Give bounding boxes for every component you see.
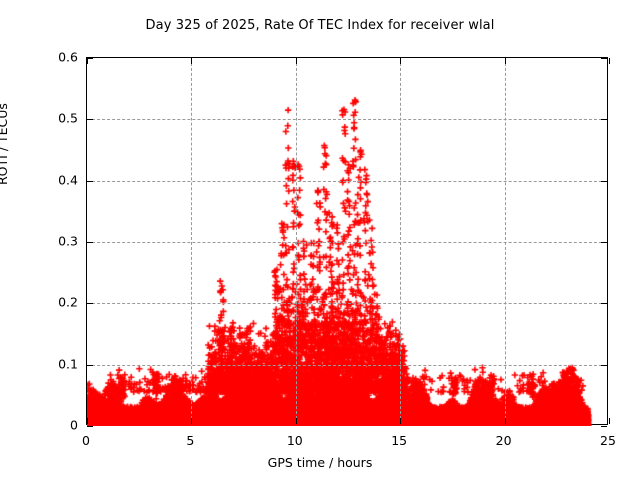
x-axis-tick-label: 20 [484, 433, 524, 448]
y-axis-label: ROTI / TECUs [0, 103, 10, 185]
y-axis-tick-right [601, 303, 607, 304]
gridline-horizontal [87, 365, 607, 366]
plot-area [86, 57, 608, 425]
gridline-horizontal [87, 242, 607, 243]
x-axis-tick-label: 15 [379, 433, 419, 448]
x-axis-label: GPS time / hours [0, 455, 640, 470]
gridline-horizontal [87, 181, 607, 182]
x-axis-tick [191, 418, 192, 424]
y-axis-tick [87, 426, 93, 427]
x-axis-tick-top [505, 58, 506, 64]
x-axis-tick-top [87, 58, 88, 64]
gridline-vertical [505, 58, 506, 424]
gridline-horizontal [87, 303, 607, 304]
gridline-vertical [400, 58, 401, 424]
y-axis-tick-label: 0.2 [32, 295, 78, 310]
gridline-horizontal [87, 119, 607, 120]
y-axis-tick-right [601, 58, 607, 59]
y-axis-tick-label: 0 [32, 418, 78, 433]
y-axis-tick-label: 0.4 [32, 172, 78, 187]
y-axis-tick [87, 365, 93, 366]
x-axis-tick-top [191, 58, 192, 64]
gridline-vertical [296, 58, 297, 424]
y-axis-tick [87, 119, 93, 120]
roti-scatter-plot-figure: Day 325 of 2025, Rate Of TEC Index for r… [0, 0, 640, 480]
x-axis-tick-label: 10 [275, 433, 315, 448]
y-axis-tick-right [601, 242, 607, 243]
x-axis-tick-label: 0 [66, 433, 106, 448]
y-axis-tick-label: 0.3 [32, 234, 78, 249]
y-axis-tick-label: 0.1 [32, 356, 78, 371]
x-axis-tick-label: 5 [170, 433, 210, 448]
x-axis-tick [296, 418, 297, 424]
x-axis-tick [505, 418, 506, 424]
x-axis-tick [609, 418, 610, 424]
y-axis-tick [87, 181, 93, 182]
y-axis-tick [87, 303, 93, 304]
y-axis-tick-label: 0.5 [32, 111, 78, 126]
gridline-vertical [191, 58, 192, 424]
y-axis-tick-right [601, 426, 607, 427]
x-axis-tick [400, 418, 401, 424]
y-axis-tick-right [601, 365, 607, 366]
x-axis-tick-top [400, 58, 401, 64]
x-axis-tick-label: 25 [588, 433, 628, 448]
x-axis-tick-top [609, 58, 610, 64]
y-axis-tick-label: 0.6 [32, 50, 78, 65]
y-axis-tick-right [601, 181, 607, 182]
x-axis-tick-top [296, 58, 297, 64]
y-axis-tick-right [601, 119, 607, 120]
chart-title: Day 325 of 2025, Rate Of TEC Index for r… [0, 18, 640, 33]
x-axis-tick [87, 418, 88, 424]
y-axis-tick [87, 242, 93, 243]
